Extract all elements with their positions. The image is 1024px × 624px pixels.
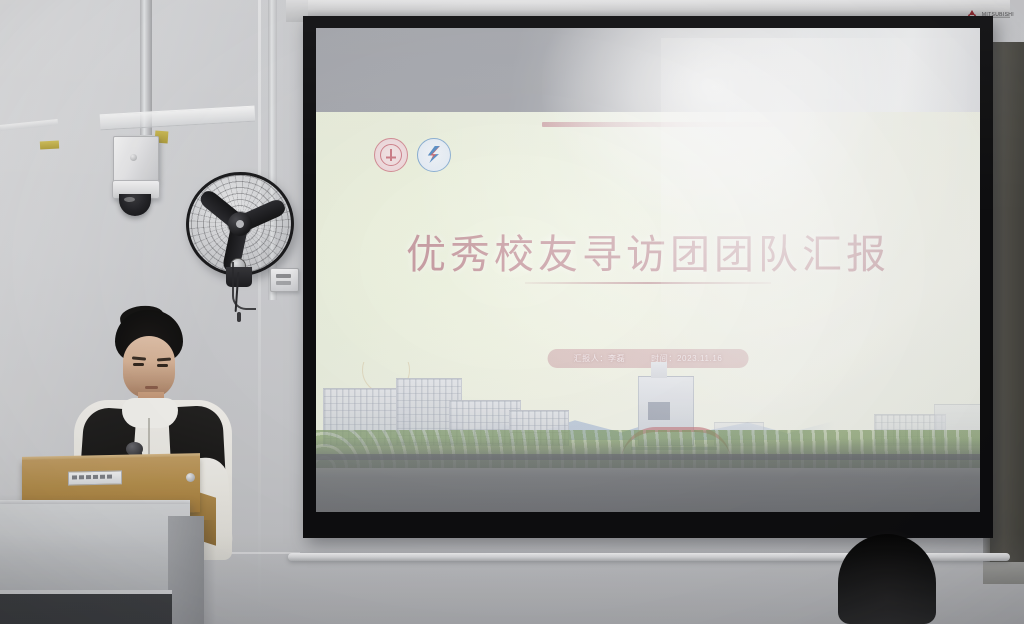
university-seal-logo-icon	[374, 138, 408, 172]
yellow-sticker	[40, 141, 59, 150]
presenter-jacket-collar	[122, 398, 178, 428]
wall-panel-seam	[258, 0, 261, 624]
slide-title-underline	[525, 282, 771, 284]
presenter-eye	[157, 364, 168, 367]
presenter-mouth	[145, 386, 158, 389]
wall-power-outlet	[270, 268, 299, 292]
lectern-knob[interactable]	[186, 473, 195, 482]
association-blue-logo-icon	[417, 138, 451, 172]
slide-title: 优秀校友寻访团团队汇报	[316, 222, 980, 280]
presentation-slide: 优秀校友寻访团团队汇报 汇报人：李磊 时间：2023.11.16	[316, 112, 980, 512]
right-dark-column	[990, 42, 1024, 562]
screen-unprojected-band	[316, 28, 980, 112]
tower-window-panel	[648, 402, 670, 420]
room-floor-shadow	[0, 534, 1024, 624]
classroom-photo-scene: MITSUBISHI 优秀校友寻访团团队汇报 汇报人：李磊 时间：2023.11…	[0, 0, 1024, 624]
foreground-ground	[316, 454, 980, 512]
wall-mounted-fan	[186, 172, 294, 276]
presenter-eye	[133, 363, 144, 366]
camera-mount-screw-icon	[130, 154, 137, 161]
tower-antenna-block	[651, 362, 667, 378]
camera-dome-highlight	[124, 197, 135, 202]
slide-campus-artwork	[316, 362, 980, 512]
slide-accent-bar	[542, 122, 788, 127]
outlet-socket-slot-lower	[276, 281, 291, 285]
projection-screen-surface: 优秀校友寻访团团队汇报 汇报人：李磊 时间：2023.11.16	[316, 28, 980, 512]
outlet-socket-slot	[276, 274, 291, 278]
projection-screen-frame: 优秀校友寻访团团队汇报 汇报人：李磊 时间：2023.11.16	[303, 16, 993, 538]
slide-logo-row	[374, 138, 451, 172]
